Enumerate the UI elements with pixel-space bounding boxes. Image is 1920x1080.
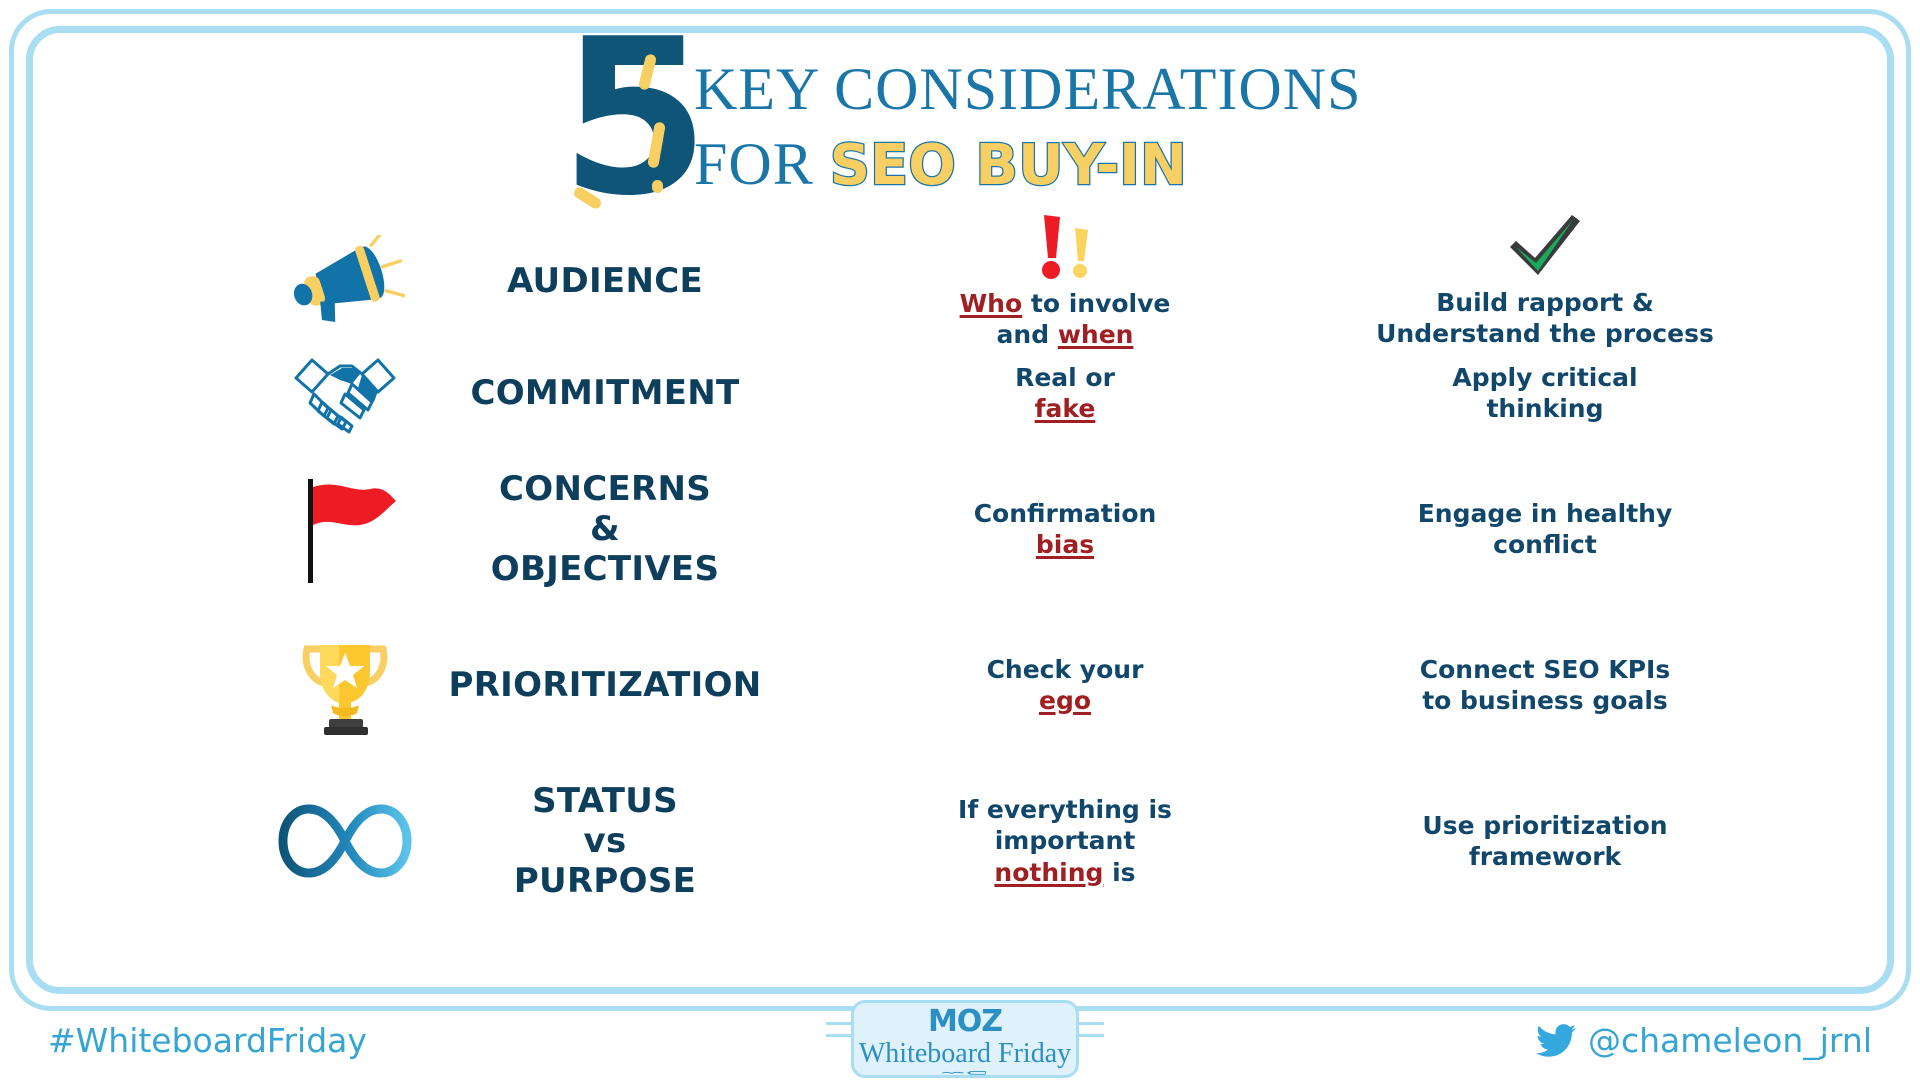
red-flag-icon [290,473,400,585]
row-label: PRIORITIZATION [440,665,770,705]
row-middle-cell: Check your ego [900,654,1230,717]
badge-tab-right [1076,1034,1104,1037]
row-right-line: Engage in healthy [1345,498,1745,529]
row-middle-line: Real or [900,362,1230,393]
consideration-row: AUDIENCE Who to involve and when Bu [0,225,1920,337]
row-right-line: framework [1345,841,1745,872]
row-right-line: Build rapport & [1345,287,1745,318]
highlight-word: ego [1039,686,1091,715]
row-right-line: Connect SEO KPIs [1345,654,1745,685]
row-middle-line: Who to involve [900,288,1230,319]
row-label-line: AUDIENCE [440,261,770,301]
consideration-row: CONCERNS & OBJECTIVES Confirmation bias … [0,449,1920,609]
handshake-icon [290,350,400,436]
title-line-2-prefix: FOR [694,131,830,197]
row-middle-line: bias [900,529,1230,560]
twitter-handle-text: @chameleon_jrnl [1588,1021,1872,1060]
row-label-line: COMMITMENT [440,373,770,413]
row-middle-cell: Confirmation bias [900,498,1230,561]
row-right-line: Apply critical [1345,362,1745,393]
badge-tab-left [826,1022,854,1025]
row-label: STATUS vs PURPOSE [440,781,770,901]
row-middle-line: If everything is [900,794,1230,825]
moz-badge-subtitle: Whiteboard Friday [859,1040,1071,1068]
row-icon-cell [250,350,440,436]
megaphone-icon [285,235,405,327]
row-icon-cell [250,633,440,737]
row-right-line: thinking [1345,393,1745,424]
row-label-line: vs [440,821,770,861]
row-label-line: PRIORITIZATION [440,665,770,705]
row-right-cell: Engage in healthy conflict [1345,498,1745,561]
row-middle-line: Confirmation [900,498,1230,529]
twitter-handle-group[interactable]: @chameleon_jrnl [1536,1021,1872,1060]
row-label-line: & [440,509,770,549]
row-label-line: STATUS [440,781,770,821]
row-icon-cell [250,801,440,881]
row-label: AUDIENCE [440,261,770,301]
infographic-canvas: 5 KEY CONSIDERATIONS FOR SEO BUY-IN [0,0,1920,1080]
highlight-word: bias [1036,530,1094,559]
row-middle-line: important [900,825,1230,856]
consideration-row: STATUS vs PURPOSE If everything is impor… [0,761,1920,921]
twitter-bird-icon [1536,1024,1576,1057]
row-icon-cell [250,235,440,327]
row-label-line: OBJECTIVES [440,549,770,589]
highlight-word: fake [1035,394,1096,423]
row-middle-line: Check your [900,654,1230,685]
title-line-1: KEY CONSIDERATIONS [694,56,1361,123]
green-checkmark-icon [1502,213,1588,283]
row-middle-line: fake [900,393,1230,424]
highlight-word: Who [960,289,1023,318]
infinity-icon [278,801,412,881]
moz-whiteboard-friday-badge[interactable]: MOZ Whiteboard Friday [851,1000,1079,1078]
row-right-cell: Build rapport & Understand the process [1345,213,1745,350]
row-label: COMMITMENT [440,373,770,413]
row-middle-line: ego [900,685,1230,716]
considerations-grid: AUDIENCE Who to involve and when Bu [0,225,1920,921]
row-icon-cell [250,473,440,585]
moz-logo: MOZ [928,1007,1002,1037]
row-middle-cell: Real or fake [900,362,1230,425]
trophy-icon [293,633,397,737]
marker-squiggle-icon [885,1070,1045,1075]
plain-text: is [1103,858,1135,887]
row-label-line: CONCERNS [440,469,770,509]
number-five-graphic: 5 [560,38,680,213]
row-label: CONCERNS & OBJECTIVES [440,469,770,589]
title-line-2: FOR SEO BUY-IN [694,131,1361,198]
row-right-line: to business goals [1345,685,1745,716]
plain-text: to involve [1022,289,1170,318]
consideration-row: PRIORITIZATION Check your ego Connect SE… [0,609,1920,761]
five-accent-dash [652,180,663,193]
row-right-cell: Apply critical thinking [1345,362,1745,425]
highlight-word: nothing [994,858,1103,887]
badge-tab-left [826,1034,854,1037]
row-right-line: Use prioritization [1345,810,1745,841]
row-label-line: PURPOSE [440,861,770,901]
double-exclamation-icon [1028,212,1102,282]
badge-tab-right [1076,1022,1104,1025]
title-line-2-accent: SEO BUY-IN [830,133,1187,198]
row-right-line: conflict [1345,529,1745,560]
page-title: 5 KEY CONSIDERATIONS FOR SEO BUY-IN [560,38,1460,213]
row-middle-cell: If everything is important nothing is [900,794,1230,888]
row-right-cell: Connect SEO KPIs to business goals [1345,654,1745,717]
row-right-cell: Use prioritization framework [1345,810,1745,873]
hashtag-label: #WhiteboardFriday [48,1021,367,1060]
row-middle-line: nothing is [900,857,1230,888]
consideration-row: COMMITMENT Real or fake Apply critical t… [0,337,1920,449]
moz-logo-text: MOZ [928,1007,1002,1037]
row-middle-cell: Who to involve and when [900,212,1230,351]
